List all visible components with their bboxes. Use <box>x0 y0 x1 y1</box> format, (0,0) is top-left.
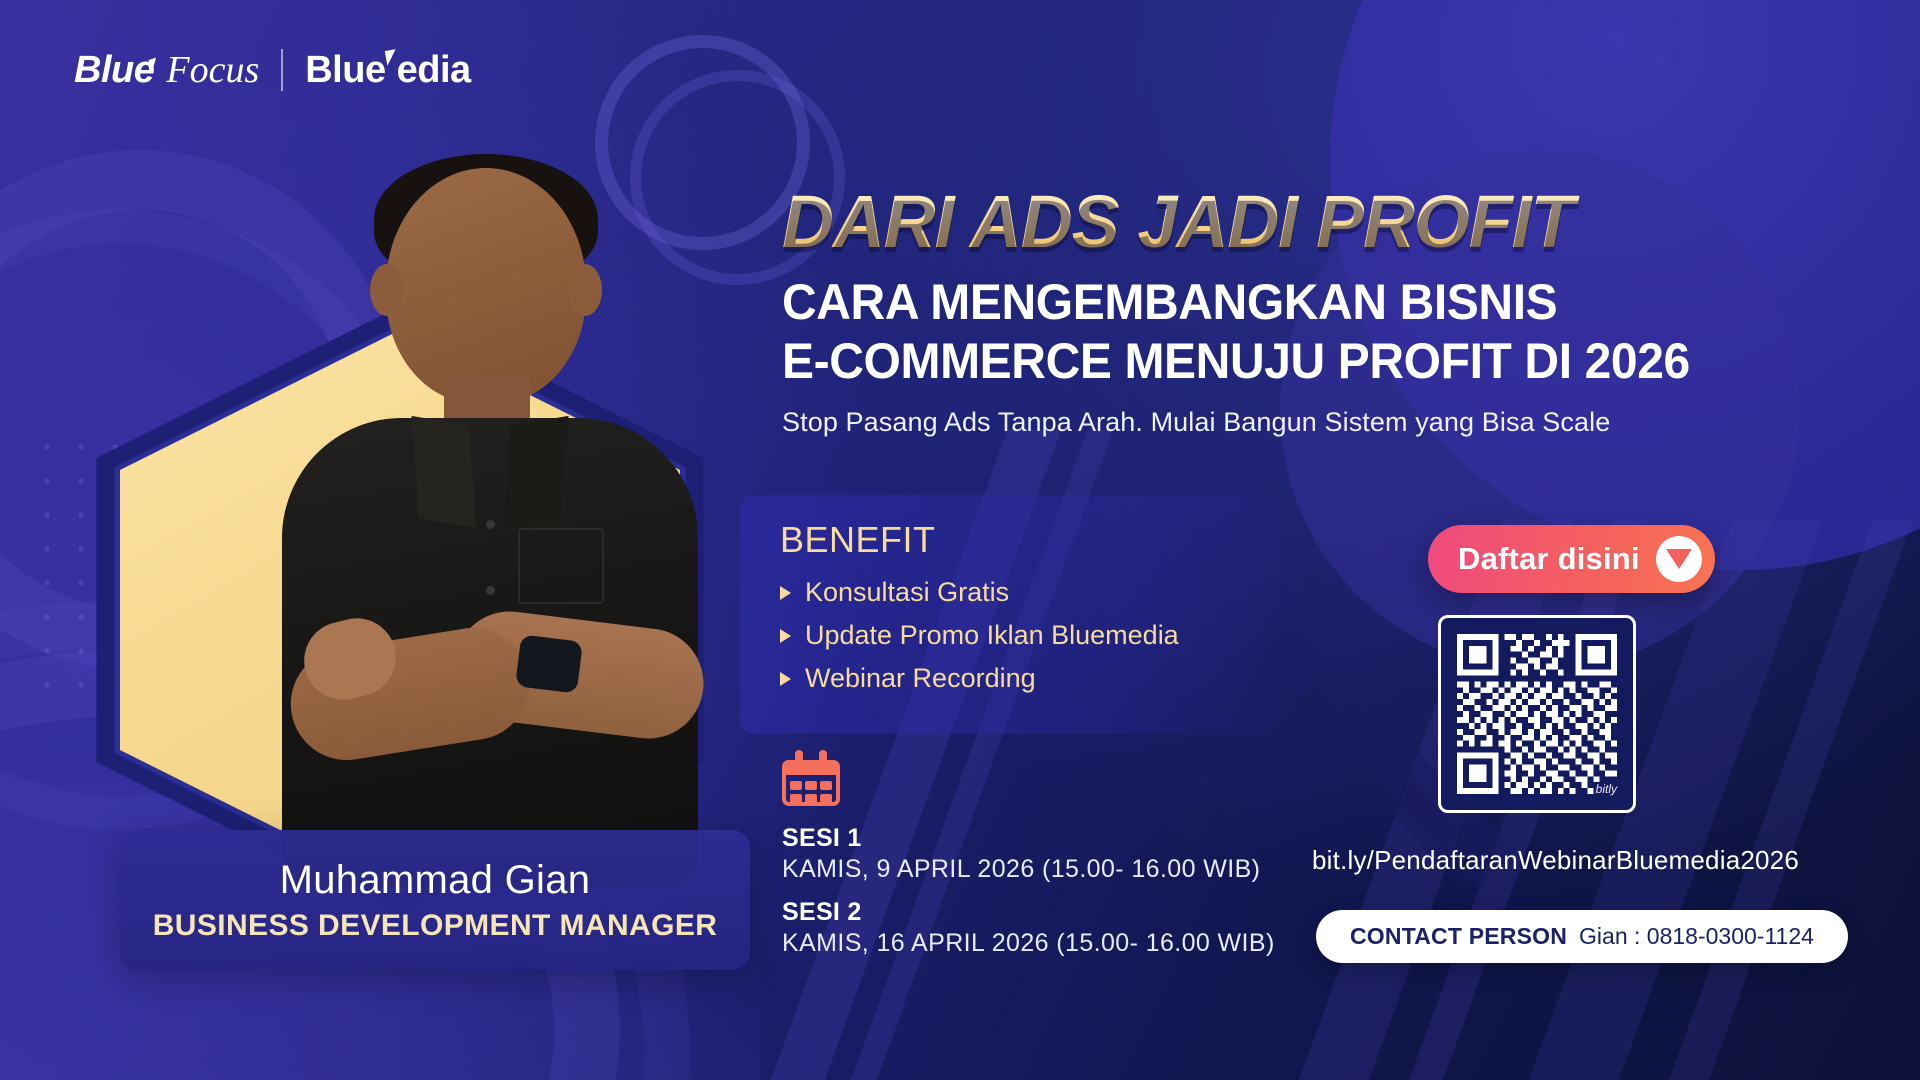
calendar-header-bar <box>782 760 840 775</box>
logo-bluefocus-focus: Focus <box>166 49 259 91</box>
benefit-list: Konsultasi Gratis Update Promo Iklan Blu… <box>780 577 1250 694</box>
calendar-cell <box>820 781 832 790</box>
calendar-cell <box>805 781 817 790</box>
triangle-bullet-icon <box>780 629 791 643</box>
calendar-cell <box>805 794 817 803</box>
triangle-bullet-icon <box>780 672 791 686</box>
speaker-collar-left <box>411 416 476 528</box>
headline-gold: DARI ADS JADI PROFIT <box>782 185 1801 259</box>
contact-value: Gian : 0818-0300-1124 <box>1579 923 1814 950</box>
benefit-item-label: Webinar Recording <box>805 663 1036 694</box>
session-date: KAMIS, 9 APRIL 2026 (15.00- 16.00 WIB) <box>782 855 1275 884</box>
speaker-shirt-button <box>486 586 495 595</box>
session-label: SESI 1 <box>782 824 1275 853</box>
headline-white-1: CARA MENGEMBANGKAN BISNIS <box>782 275 1790 330</box>
benefit-item-label: Konsultasi Gratis <box>805 577 1009 608</box>
brand-logo-lockup: BlueFocus Blueedia <box>74 48 471 92</box>
play-down-triangle-icon <box>1656 536 1702 582</box>
headline-white-2: E-COMMERCE MENUJU PROFIT DI 2026 <box>782 334 1790 389</box>
speaker-role: BUSINESS DEVELOPMENT MANAGER <box>153 909 718 943</box>
triangle-bullet-icon <box>780 586 791 600</box>
schedule-block: SESI 1 KAMIS, 9 APRIL 2026 (15.00- 16.00… <box>782 750 1275 972</box>
cursor-arrow-icon <box>149 56 164 71</box>
calendar-cell <box>790 794 802 803</box>
logo-bluefocus-blue: Blue <box>74 49 154 91</box>
benefit-item: Webinar Recording <box>780 663 1250 694</box>
flag-m-icon <box>384 49 397 66</box>
contact-person-pill: CONTACT PERSON Gian : 0818-0300-1124 <box>1316 910 1848 963</box>
session-row: SESI 1 KAMIS, 9 APRIL 2026 (15.00- 16.00… <box>782 824 1275 884</box>
logo-divider <box>281 49 283 91</box>
session-date: KAMIS, 16 APRIL 2026 (15.00- 16.00 WIB) <box>782 929 1275 958</box>
speaker-ear-left <box>370 264 404 316</box>
speaker-name: Muhammad Gian <box>280 858 591 903</box>
session-label: SESI 2 <box>782 898 1275 927</box>
speaker-watch <box>515 634 583 693</box>
headline-tagline: Stop Pasang Ads Tanpa Arah. Mulai Bangun… <box>782 407 1832 438</box>
logo-bluemedia-blue: Blue <box>305 49 385 92</box>
speaker-nameplate: Muhammad Gian BUSINESS DEVELOPMENT MANAG… <box>120 830 750 970</box>
benefit-item: Konsultasi Gratis <box>780 577 1250 608</box>
speaker-head <box>386 168 586 404</box>
speaker-shirt-pocket <box>518 528 604 604</box>
logo-bluemedia-media: edia <box>397 49 471 92</box>
speaker-collar-right <box>503 416 568 528</box>
speaker-shirt-button <box>486 520 495 529</box>
register-button[interactable]: Daftar disini <box>1428 525 1715 593</box>
benefit-item: Update Promo Iklan Bluemedia <box>780 620 1250 651</box>
contact-label: CONTACT PERSON <box>1350 923 1567 950</box>
calendar-icon <box>782 750 840 806</box>
calendar-cell <box>790 781 802 790</box>
calendar-cell <box>820 794 832 803</box>
benefit-item-label: Update Promo Iklan Bluemedia <box>805 620 1179 651</box>
qr-code[interactable]: bitly <box>1438 615 1636 813</box>
session-row: SESI 2 KAMIS, 16 APRIL 2026 (15.00- 16.0… <box>782 898 1275 958</box>
qr-watermark: bitly <box>1596 782 1617 796</box>
webinar-promo-banner: BlueFocus Blueedia Muhammad Gian BUSINES… <box>0 0 1920 1080</box>
registration-url[interactable]: bit.ly/PendaftaranWebinarBluemedia2026 <box>1312 845 1799 876</box>
register-button-label: Daftar disini <box>1458 541 1640 577</box>
benefit-title: BENEFIT <box>780 519 1250 561</box>
benefit-panel: BENEFIT Konsultasi Gratis Update Promo I… <box>740 495 1280 734</box>
speaker-ear-right <box>568 264 602 316</box>
qr-code-image <box>1451 628 1623 800</box>
logo-bluemedia: Blueedia <box>305 49 470 92</box>
logo-bluefocus: BlueFocus <box>74 48 259 92</box>
headline-block: DARI ADS JADI PROFIT CARA MENGEMBANGKAN … <box>782 185 1832 438</box>
